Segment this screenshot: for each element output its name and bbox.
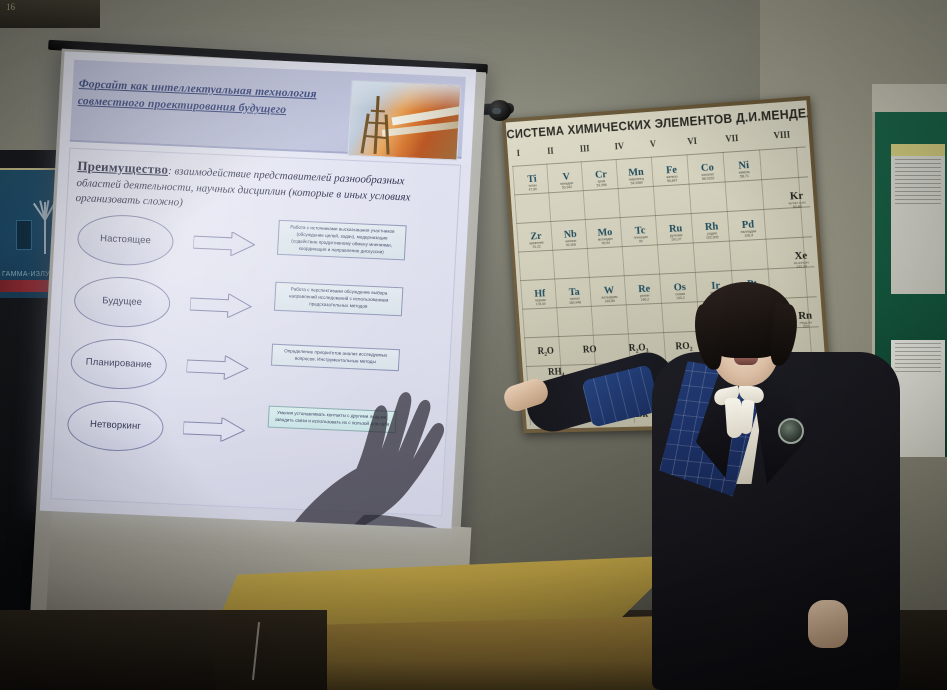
group-numeral: VI	[687, 136, 697, 146]
left-wall-strip: 16	[0, 0, 100, 28]
element-cell: Vванадий50,942	[549, 171, 585, 191]
presenter-woman	[600, 300, 947, 690]
board-top-trim	[872, 84, 947, 114]
diagram-text-box-content: Умения устанавливать контакты с другими …	[273, 410, 392, 429]
element-cell: Tcтехнеций99	[622, 225, 659, 245]
diagram-row: НетворкингУмения устанавливать контакты …	[54, 396, 447, 471]
group-numeral: VII	[725, 133, 739, 144]
element-cell: Ruрутений101,07	[657, 223, 694, 243]
notice-header-band	[891, 144, 945, 156]
diagram-oval-label: Нетворкинг	[90, 419, 141, 432]
slide-title: Форсайт как интеллектуальная технология …	[78, 76, 340, 121]
block-arrow-right-icon	[193, 230, 256, 257]
element-cell: Mnмарганец54,9380	[618, 166, 655, 187]
diagram-text-box-content: Работа с источниками высказывания участн…	[282, 224, 401, 257]
oxide-formula: RO	[583, 344, 597, 355]
presenter-bow-tie	[708, 384, 774, 426]
element-cell: Osосмий190,2	[662, 282, 699, 302]
wooden-desk	[215, 556, 665, 690]
diagram-text-box: Работа с источниками высказывания участн…	[277, 220, 407, 261]
element-cell: Crхром51,996	[583, 169, 619, 189]
group-numeral: II	[547, 146, 554, 156]
left-wall-label: 16	[6, 2, 15, 12]
photo-scene: ГАММА-ИЗЛУЧЕНИЕ 16 СИСТЕМА ХИМИЧЕСКИХ ЭЛ…	[0, 0, 947, 690]
transmission-tower	[363, 96, 392, 155]
mount-glint	[492, 108, 501, 114]
element-cell: Hfгафний178,49	[523, 288, 558, 308]
noble-gas-cell: KrКРИПТОН83,80	[778, 190, 817, 211]
projector-mount-knob	[488, 100, 511, 121]
diagram-oval: Нетворкинг	[66, 399, 165, 453]
diagram-text-box-content: Работа с перспективами обсуждение выбора…	[279, 286, 398, 312]
block-arrow-right-icon	[190, 292, 253, 319]
diagram-oval-label: Будущее	[102, 296, 142, 309]
advantage-label: Преимущество	[77, 158, 169, 177]
diagram-oval: Будущее	[73, 275, 172, 329]
block-arrow-right-icon	[186, 354, 249, 381]
diagram-text-box: Умения устанавливать контакты с другими …	[268, 405, 397, 432]
desk-side	[215, 610, 327, 690]
group-numeral: III	[580, 143, 590, 153]
notice-paper-1	[891, 144, 945, 294]
element-cell: Tiтитан47,90	[515, 173, 550, 193]
slide-body: Преимущество: взаимодействие представите…	[50, 148, 461, 517]
element-cell: Taтантал180,948	[557, 286, 593, 306]
diagram-text-box-content: Определение приоритетов анализ исследуем…	[276, 348, 395, 367]
diagram-oval: Планирование	[69, 337, 168, 391]
projected-slide: Форсайт как интеллектуальная технология …	[40, 51, 477, 528]
slide-diagram: НастоящееРабота с источниками высказыван…	[54, 210, 457, 477]
diagram-oval: Настоящее	[76, 213, 175, 267]
noble-gas-cell: XeКСЕНОН131,30	[782, 250, 821, 271]
element-cell: Moмолибден95,94	[587, 227, 623, 247]
element-cell: Niникель58,71	[725, 159, 763, 180]
group-numeral: VIII	[773, 129, 790, 140]
element-cell: Coкобальт58,9332	[689, 162, 726, 183]
group-numeral: I	[516, 148, 520, 158]
diagram-text-box: Определение приоритетов анализ исследуем…	[271, 343, 400, 370]
oxide-formula: R₂O	[537, 346, 554, 357]
element-cell: Rhродий102,905	[693, 221, 730, 242]
element-mass: 83,80	[779, 205, 816, 211]
element-mass: 131,30	[783, 265, 821, 271]
presenter-brooch	[778, 418, 804, 444]
slide-header: Форсайт как интеллектуальная технология …	[70, 60, 466, 159]
diagram-oval-label: Планирование	[86, 357, 153, 371]
diagram-text-box: Работа с перспективами обсуждение выбора…	[274, 282, 403, 316]
block-arrow-right-icon	[183, 416, 246, 443]
group-numeral: IV	[614, 141, 624, 151]
diagram-oval-label: Настоящее	[100, 233, 151, 246]
group-numeral: V	[650, 139, 657, 149]
element-cell: Nbниобий92,906	[553, 229, 589, 249]
poster-box-left	[16, 220, 32, 250]
element-cell: Zrцирконий91,22	[519, 231, 554, 251]
presenter-mouth	[734, 358, 758, 365]
element-cell: Pdпалладий106,4	[729, 219, 767, 240]
power-tower-industrial-photo	[347, 80, 461, 161]
element-cell: Feжелезо55,847	[653, 164, 690, 185]
presenter-right-hand	[808, 600, 848, 648]
